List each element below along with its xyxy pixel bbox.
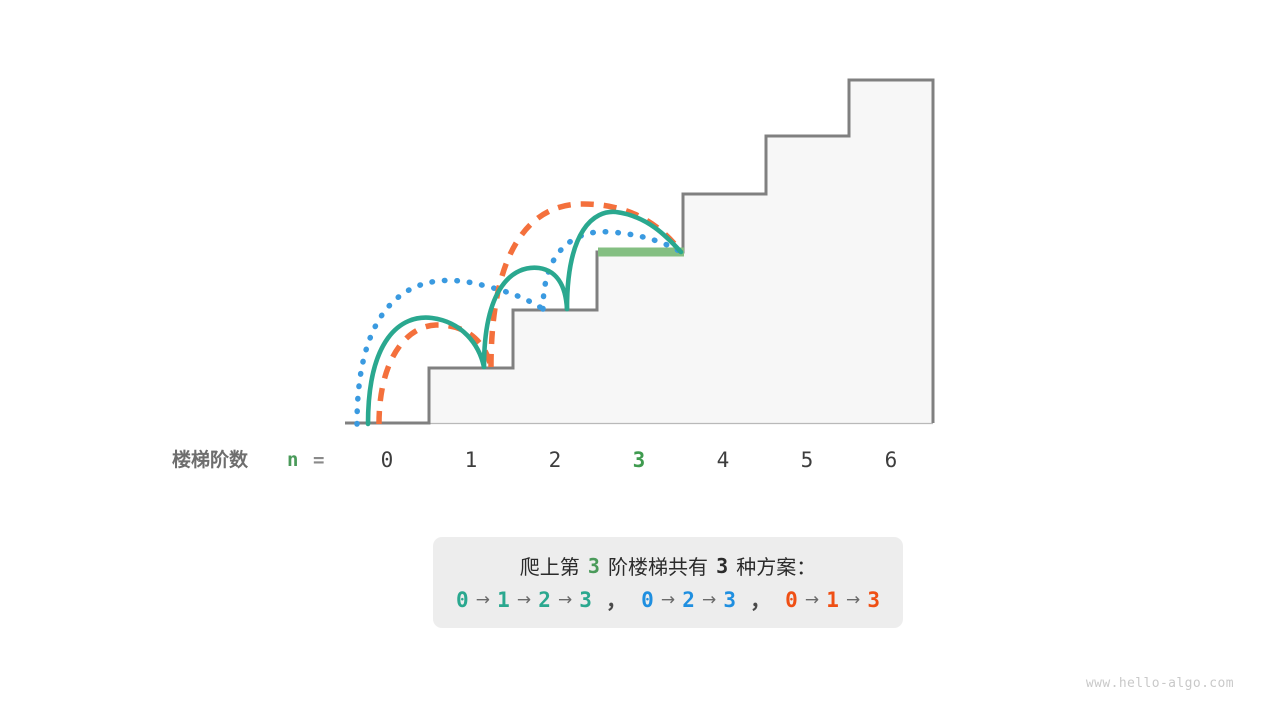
arrow-icon: →	[515, 590, 533, 610]
tick-label-3: 3	[619, 446, 659, 474]
arrow-icon: →	[556, 590, 574, 610]
caption-count-number: 3	[713, 554, 731, 578]
seq-2-node-2: 3	[723, 588, 736, 612]
arrow-icon: →	[803, 590, 821, 610]
seq-2-node-0: 0	[641, 588, 654, 612]
caption-step-number: 3	[585, 554, 603, 578]
watermark: www.hello-algo.com	[1086, 676, 1234, 691]
caption-box: 爬上第 3 阶楼梯共有 3 种方案： 0 → 1 → 2 → 3 ， 0 → 2…	[433, 537, 903, 628]
caption-line-summary: 爬上第 3 阶楼梯共有 3 种方案：	[433, 551, 903, 580]
caption-suffix: 种方案：	[736, 555, 816, 579]
axis-label-row: 楼梯阶数 n = 0 1 2 3 4 5 6	[0, 446, 1280, 480]
caption-middle: 阶楼梯共有	[608, 555, 708, 579]
seq-3-node-0: 0	[785, 588, 798, 612]
caption-line-sequences: 0 → 1 → 2 → 3 ， 0 → 2 → 3 ， 0 → 1 → 3	[433, 585, 903, 615]
seq-1-node-0: 0	[456, 588, 469, 612]
sequence-separator: ，	[597, 589, 636, 613]
tick-label-4: 4	[703, 446, 743, 474]
seq-1-node-3: 3	[579, 588, 592, 612]
tick-label-5: 5	[787, 446, 827, 474]
tick-label-0: 0	[367, 446, 407, 474]
seq-1-node-1: 1	[497, 588, 510, 612]
arrow-icon: →	[700, 590, 718, 610]
caption-prefix: 爬上第	[520, 555, 580, 579]
seq-2-node-1: 2	[682, 588, 695, 612]
seq-3-node-1: 1	[826, 588, 839, 612]
tick-label-2: 2	[535, 446, 575, 474]
stair-climbing-diagram: 楼梯阶数 n = 0 1 2 3 4 5 6 爬上第 3 阶楼梯共有 3 种方案…	[0, 0, 1280, 720]
axis-equals-sign: =	[313, 446, 324, 474]
seq-3-node-2: 3	[867, 588, 880, 612]
arrow-icon: →	[474, 590, 492, 610]
tick-label-6: 6	[871, 446, 911, 474]
tick-label-1: 1	[451, 446, 491, 474]
seq-1-node-2: 2	[538, 588, 551, 612]
arrow-icon: →	[659, 590, 677, 610]
axis-variable: n	[287, 446, 298, 474]
axis-title: 楼梯阶数	[172, 446, 248, 474]
arrow-icon: →	[844, 590, 862, 610]
sequence-separator: ，	[741, 589, 780, 613]
